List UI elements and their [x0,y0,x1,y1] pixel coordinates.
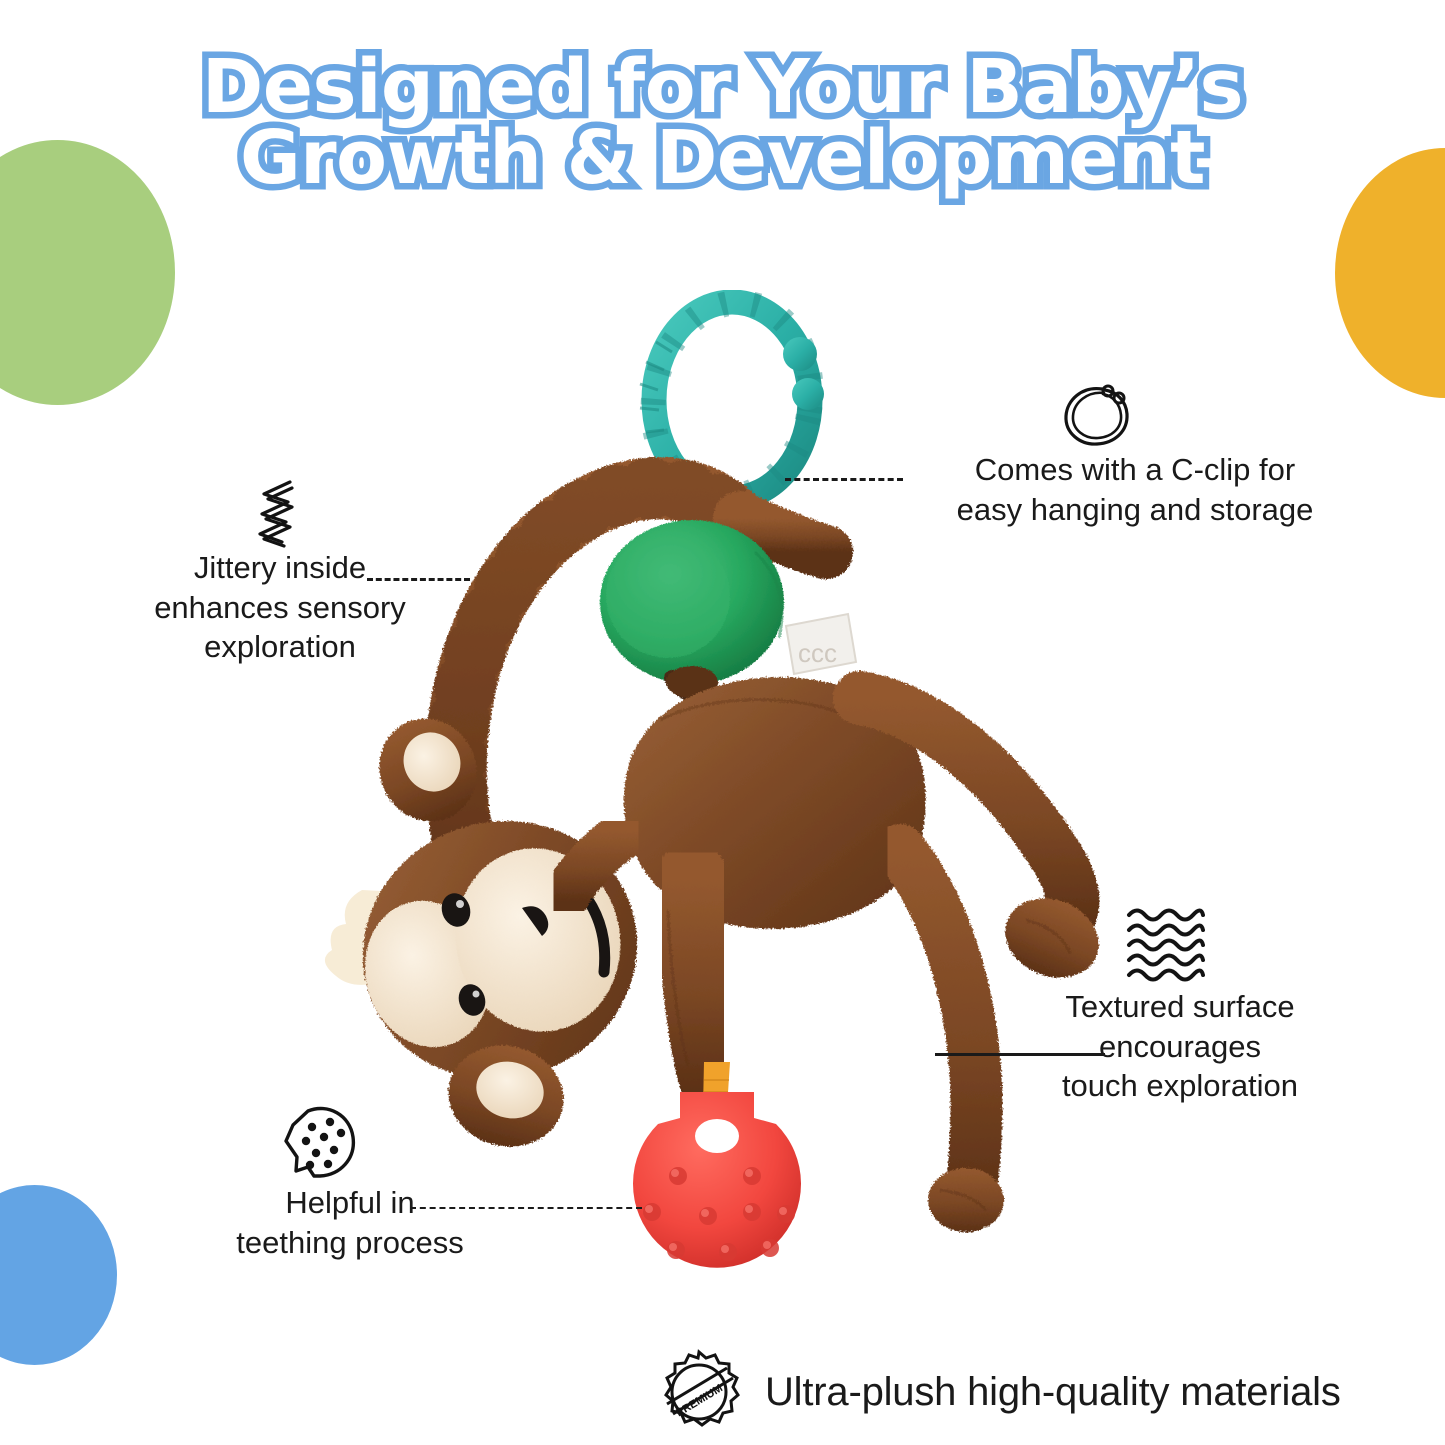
page-title-line-2: Growth & Development [0,123,1445,194]
callout-c-clip: Comes with a C-clip for easy hanging and… [880,382,1350,529]
infographic-canvas: Designed for Your Baby’s Growth & Develo… [0,0,1445,1445]
monkey-leg-right [900,850,1004,1232]
callout-c-clip-text: Comes with a C-clip for easy hanging and… [880,450,1350,529]
bottom-banner-text: Ultra-plush high-quality materials [765,1370,1341,1415]
premium-seal-icon: PREMIUM [655,1348,743,1436]
callout-teething: Helpful in teething process [200,1105,500,1262]
wavy-lines-texture-icon [1125,905,1207,987]
ring-clip-icon [1058,382,1138,450]
page-title-line-1: Designed for Your Baby’s [0,52,1445,123]
svg-text:ccc: ccc [798,638,837,668]
monkey-head [325,703,671,1159]
dotted-teether-icon [280,1105,362,1183]
monkey-leg-left [668,878,718,1090]
care-tag: ccc [786,614,856,674]
red-teether [633,1092,801,1268]
callout-teething-text: Helpful in teething process [200,1183,500,1262]
callout-textured: Textured surface encourages touch explor… [1015,905,1345,1106]
green-plush-ball [600,520,784,698]
callout-textured-text: Textured surface encourages touch explor… [1015,987,1345,1106]
zigzag-vibration-icon [250,478,308,548]
callout-jittery-text: Jittery inside enhances sensory explorat… [120,548,440,667]
callout-jittery: Jittery inside enhances sensory explorat… [120,478,440,667]
bottom-banner: PREMIUM Ultra-plush high-quality materia… [655,1348,1341,1436]
decor-circle-blue [0,1185,117,1365]
page-title: Designed for Your Baby’s Growth & Develo… [0,52,1445,194]
